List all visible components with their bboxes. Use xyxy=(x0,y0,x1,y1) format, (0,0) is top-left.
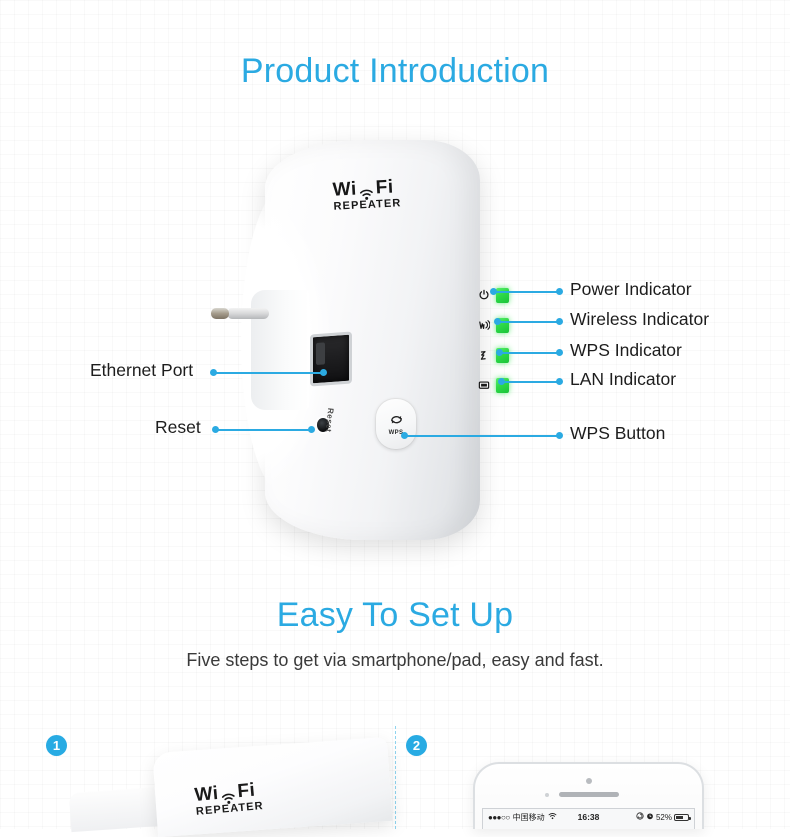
power-icon xyxy=(477,289,490,302)
label-wireless-indicator: Wireless Indicator xyxy=(570,309,709,330)
step1-brand-text-fi: Fi xyxy=(237,780,257,803)
step2-phone-photo: ●●●○○ 中国移动 16:38 xyxy=(473,762,704,829)
lan-icon xyxy=(477,379,490,392)
led-lamp-power xyxy=(496,288,509,303)
plug-prong xyxy=(227,308,269,319)
leader-dot-label-reset xyxy=(212,426,219,433)
wifi-icon xyxy=(359,185,375,200)
wps-button[interactable]: WPS xyxy=(375,398,417,450)
led-row-wireless xyxy=(477,310,523,340)
page-title-easy-to-set-up: Easy To Set Up xyxy=(0,596,790,635)
leader-dot-device-reset xyxy=(308,426,315,433)
leader-dot-device-wps xyxy=(496,349,503,356)
leader-dot-device-ethernet xyxy=(320,369,327,376)
device-brand-logo: Wi Fi REPEATER xyxy=(332,176,402,213)
leader-dot-label-wps-button xyxy=(556,432,563,439)
brand-text-wi: Wi xyxy=(332,179,357,202)
step-divider xyxy=(395,726,396,829)
page-root: Product Introduction Wi Fi REPEAT xyxy=(0,0,790,829)
leader-line-lan xyxy=(502,381,562,383)
battery-icon xyxy=(674,814,689,821)
leader-line-wps-indicator xyxy=(500,352,562,354)
setup-subtitle: Five steps to get via smartphone/pad, ea… xyxy=(0,650,790,671)
phone-status-bar: ●●●○○ 中国移动 16:38 xyxy=(483,809,694,825)
label-wps-button: WPS Button xyxy=(570,423,665,444)
label-wps-indicator: WPS Indicator xyxy=(570,340,682,361)
phone-earpiece-speaker xyxy=(559,792,619,797)
leader-dot-label-power xyxy=(556,288,563,295)
step1-device-photo xyxy=(152,737,392,837)
led-row-lan xyxy=(477,370,523,400)
leader-line-ethernet xyxy=(214,372,324,374)
step1-device-side xyxy=(69,787,163,832)
brand-text-fi: Fi xyxy=(375,177,394,200)
leader-dot-device-wps-button xyxy=(401,432,408,439)
leader-line-wireless xyxy=(498,321,562,323)
label-lan-indicator: LAN Indicator xyxy=(570,369,676,390)
leader-dot-device-lan xyxy=(498,378,505,385)
leader-line-wps-button xyxy=(405,435,562,437)
phone-clock: 16:38 xyxy=(483,812,694,822)
leader-dot-label-wireless xyxy=(556,318,563,325)
wps-icon xyxy=(477,349,490,362)
device-illustration: Wi Fi REPEATER Reset xyxy=(205,140,525,540)
phone-screen[interactable]: ●●●○○ 中国移动 16:38 xyxy=(482,808,695,829)
ethernet-port[interactable] xyxy=(310,332,352,387)
leader-dot-label-ethernet xyxy=(210,369,217,376)
step-badge-1: 1 xyxy=(46,735,67,756)
page-title-product-introduction: Product Introduction xyxy=(0,52,790,91)
label-power-indicator: Power Indicator xyxy=(570,279,692,300)
leader-line-reset xyxy=(216,429,312,431)
wireless-icon xyxy=(477,319,490,332)
wifi-icon xyxy=(220,788,236,803)
leader-dot-label-lan xyxy=(556,378,563,385)
leader-dot-label-wps xyxy=(556,349,563,356)
step1-device-brand-logo: Wi Fi REPEATER xyxy=(194,779,265,818)
label-reset: Reset xyxy=(155,417,201,438)
step-badge-2: 2 xyxy=(406,735,427,756)
wps-refresh-icon xyxy=(388,412,405,432)
leader-dot-device-wireless xyxy=(494,318,501,325)
leader-line-power xyxy=(494,291,562,293)
leader-dot-device-power xyxy=(490,288,497,295)
phone-proximity-sensor-icon xyxy=(545,793,549,797)
phone-front-camera-icon xyxy=(586,778,592,784)
label-ethernet-port: Ethernet Port xyxy=(90,360,193,381)
plug-prong-tip xyxy=(211,308,229,319)
led-row-power xyxy=(477,280,523,310)
